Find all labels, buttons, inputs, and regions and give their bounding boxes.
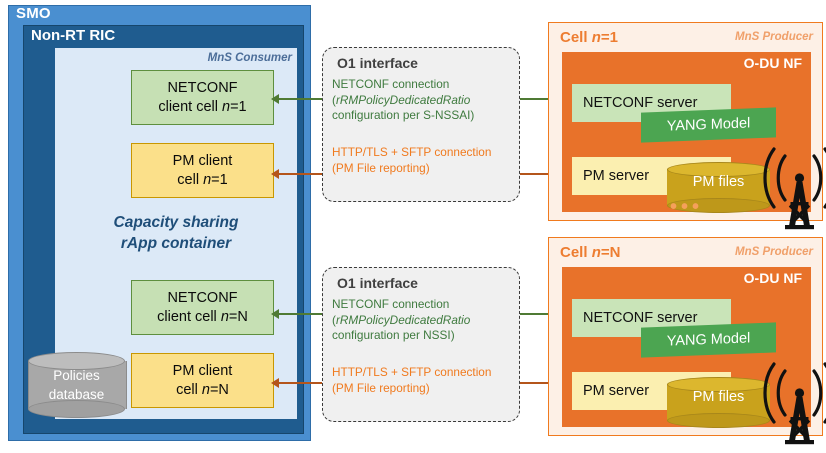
netconf-client-n-line2: client cell n=N <box>157 308 248 327</box>
rapp-container-label: Capacity sharing rApp container <box>60 212 292 254</box>
o1-netconf-line1-1: NETCONF connection <box>332 77 449 91</box>
o1-pm-desc-2: HTTP/TLS + SFTP connection (PM File repo… <box>332 365 522 396</box>
netconf-client-1-line2: client cell n=1 <box>158 98 246 117</box>
o1-title-2: O1 interface <box>337 275 418 291</box>
pm-client-1-line2: cell n=1 <box>177 171 227 190</box>
o1-netconf-line3-1: configuration per S-NSSAI) <box>332 108 474 122</box>
pm-link-arrow-left-1 <box>271 169 279 179</box>
cell-title-1: Cell n=1 <box>560 29 618 46</box>
netconf-client-cell-1[interactable]: NETCONF client cell n=1 <box>131 70 274 125</box>
mns-producer-label-1: MnS Producer <box>735 31 813 43</box>
pm-client-cell-1[interactable]: PM client cell n=1 <box>131 143 274 198</box>
yang-model-1[interactable]: YANG Model <box>641 107 776 142</box>
o1-pm-line1-2: HTTP/TLS + SFTP connection <box>332 365 491 379</box>
pm-link-arrow-left-n <box>271 378 279 388</box>
netconf-client-n-line1: NETCONF <box>167 289 237 308</box>
non-rt-ric-label: Non-RT RIC <box>31 27 115 44</box>
smo-label: SMO <box>16 5 51 22</box>
netconf-link-arrow-left-1 <box>271 94 279 104</box>
o1-netconf-desc-1: NETCONF connection (rRMPolicyDedicatedRa… <box>332 77 518 124</box>
o1-netconf-line1-2: NETCONF connection <box>332 297 449 311</box>
policies-database-label: Policies database <box>28 366 125 404</box>
o1-interface-box-1: O1 interface NETCONF connection (rRMPoli… <box>322 47 520 202</box>
antenna-tower-icon-1 <box>752 140 826 230</box>
odu-nf-label-2: O-DU NF <box>744 270 802 286</box>
db-line2: database <box>49 387 105 402</box>
cell-title-2: Cell n=N <box>560 244 620 261</box>
o1-pm-line1-1: HTTP/TLS + SFTP connection <box>332 145 491 159</box>
o1-pm-line2-2: (PM File reporting) <box>332 381 430 395</box>
pm-client-n-line2: cell n=N <box>176 381 229 400</box>
mns-producer-label-2: MnS Producer <box>735 246 813 258</box>
pm-client-cell-n[interactable]: PM client cell n=N <box>131 353 274 408</box>
o1-netconf-italic-1: rRMPolicyDedicatedRatio <box>336 93 470 107</box>
antenna-tower-icon-2 <box>752 355 826 445</box>
o1-pm-desc-1: HTTP/TLS + SFTP connection (PM File repo… <box>332 145 522 176</box>
mns-consumer-label: MnS Consumer <box>180 52 292 64</box>
pm-client-n-line1: PM client <box>173 362 233 381</box>
o1-pm-line2-1: (PM File reporting) <box>332 161 430 175</box>
o1-interface-box-2: O1 interface NETCONF connection (rRMPoli… <box>322 267 520 422</box>
o1-netconf-line3-2: configuration per NSSI) <box>332 328 455 342</box>
rapp-label-line1: Capacity sharing <box>114 214 239 231</box>
o1-netconf-italic-2: rRMPolicyDedicatedRatio <box>336 313 470 327</box>
netconf-client-cell-n[interactable]: NETCONF client cell n=N <box>131 280 274 335</box>
policies-database-cylinder: Policies database <box>28 352 125 418</box>
netconf-link-arrow-left-n <box>271 309 279 319</box>
o1-title-1: O1 interface <box>337 55 418 71</box>
odu-nf-label-1: O-DU NF <box>744 55 802 71</box>
yang-model-2[interactable]: YANG Model <box>641 322 776 357</box>
o1-netconf-desc-2: NETCONF connection (rRMPolicyDedicatedRa… <box>332 297 518 344</box>
diagram-canvas: SMO Non-RT RIC MnS Consumer Capacity sha… <box>0 0 826 453</box>
netconf-client-1-line1: NETCONF <box>167 79 237 98</box>
pm-client-1-line1: PM client <box>173 152 233 171</box>
db-line1: Policies <box>53 368 100 383</box>
rapp-label-line2: rApp container <box>121 235 231 252</box>
